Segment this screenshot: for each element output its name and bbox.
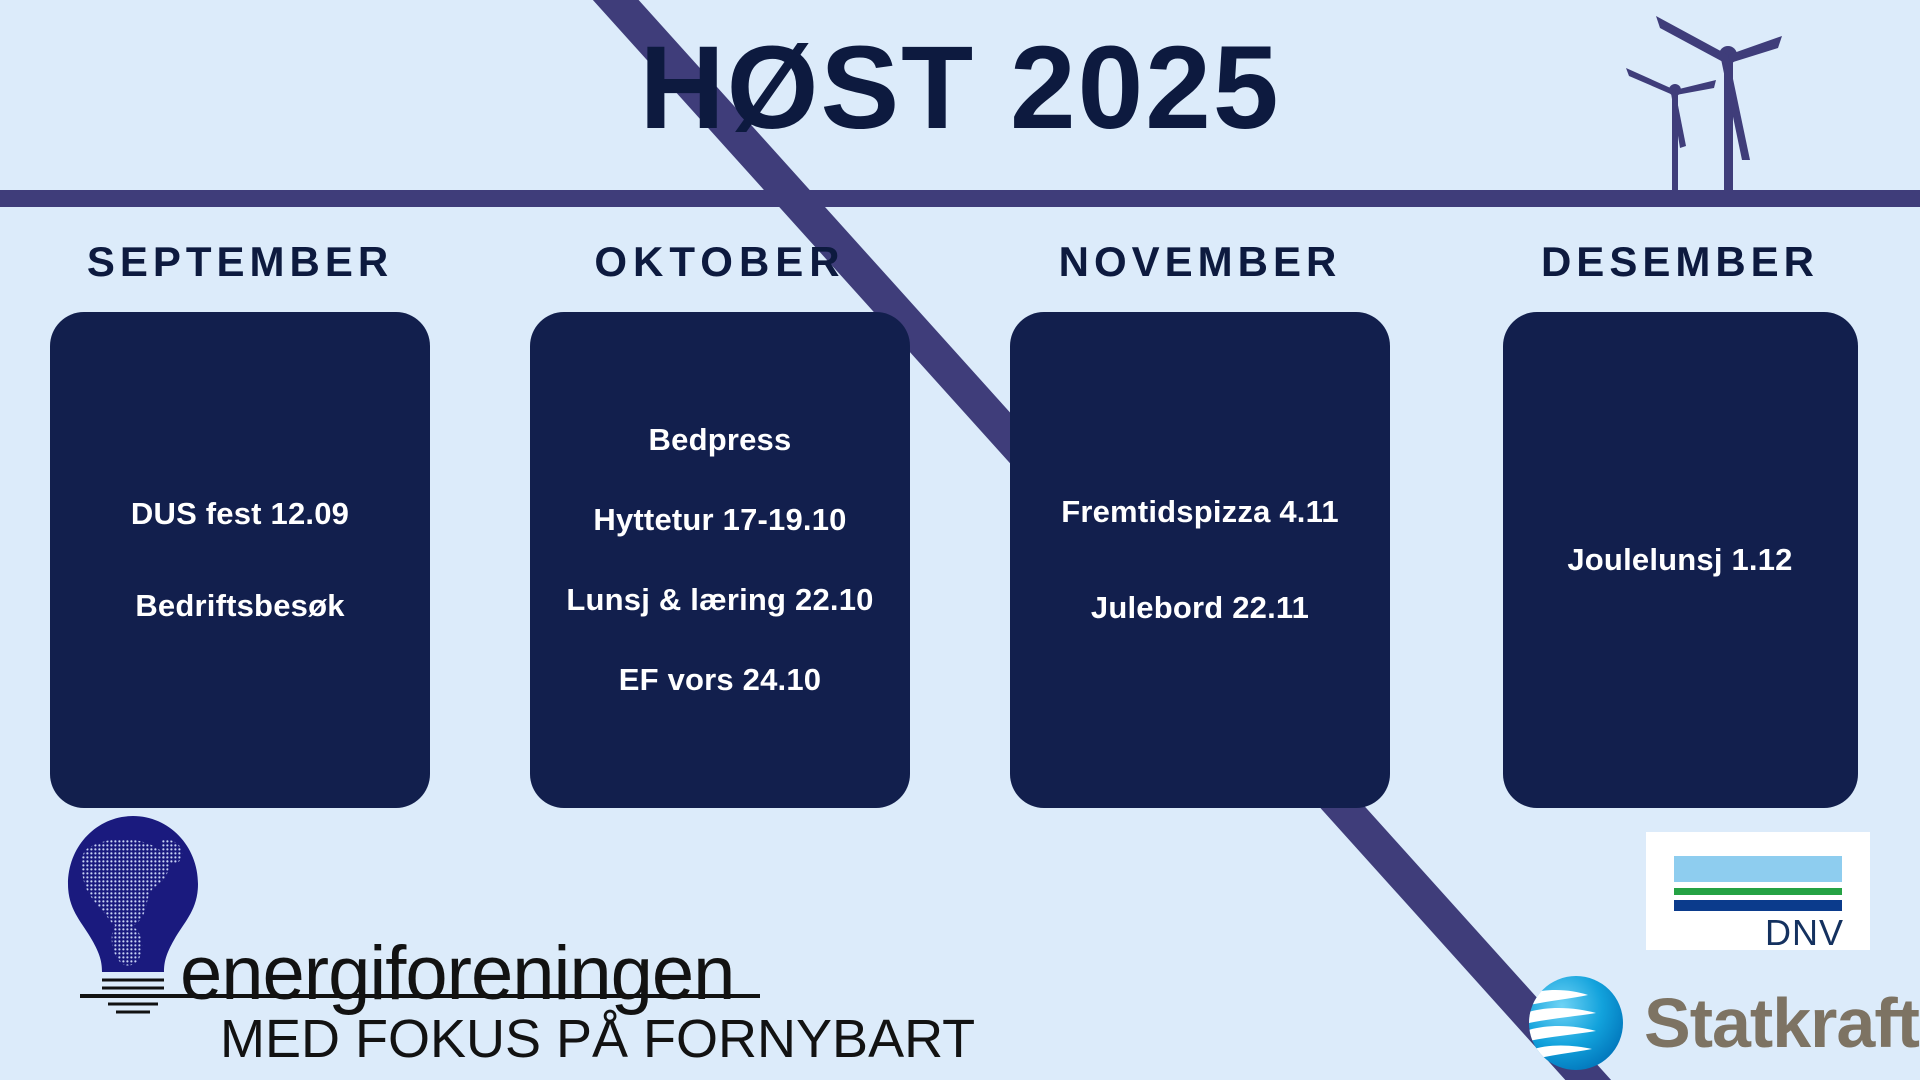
month-heading-desember: DESEMBER (1541, 238, 1819, 286)
event-item: Bedpress (649, 422, 792, 458)
event-item: EF vors 24.10 (619, 662, 822, 698)
dnv-logo: DNV (1646, 832, 1870, 950)
month-column-september: SEPTEMBER DUS fest 12.09 Bedriftsbesøk (0, 238, 480, 808)
month-column-oktober: OKTOBER Bedpress Hyttetur 17-19.10 Lunsj… (480, 238, 960, 808)
poster-canvas: HØST 2025 SEPTEMBER DUS fest 12.09 Bedri… (0, 0, 1920, 1080)
dnv-bar-light (1674, 856, 1842, 882)
month-card-september: DUS fest 12.09 Bedriftsbesøk (50, 312, 430, 808)
month-heading-oktober: OKTOBER (594, 238, 845, 286)
energiforeningen-tagline: MED FOKUS PÅ FORNYBART (220, 1008, 975, 1070)
month-heading-november: NOVEMBER (1059, 238, 1342, 286)
statkraft-logo: Statkraft (1516, 965, 1920, 1080)
month-card-desember: Joulelunsj 1.12 (1503, 312, 1858, 808)
dnv-wordmark: DNV (1674, 912, 1844, 954)
month-card-november: Fremtidspizza 4.11 Julebord 22.11 (1010, 312, 1390, 808)
globe-swoosh-icon (1526, 973, 1626, 1073)
month-column-desember: DESEMBER Joulelunsj 1.12 (1440, 238, 1920, 808)
month-column-november: NOVEMBER Fremtidspizza 4.11 Julebord 22.… (960, 238, 1440, 808)
event-item: Joulelunsj 1.12 (1567, 542, 1792, 578)
statkraft-wordmark: Statkraft (1644, 983, 1919, 1063)
energiforeningen-logo: energiforeningen MED FOKUS PÅ FORNYBART (40, 812, 980, 1080)
event-item: Lunsj & læring 22.10 (566, 582, 873, 618)
month-heading-september: SEPTEMBER (87, 238, 393, 286)
month-card-oktober: Bedpress Hyttetur 17-19.10 Lunsj & lærin… (530, 312, 910, 808)
page-title: HØST 2025 (0, 18, 1920, 160)
event-item: Fremtidspizza 4.11 (1061, 494, 1339, 530)
energiforeningen-wordmark: energiforeningen (180, 930, 734, 1017)
event-item: Julebord 22.11 (1091, 590, 1309, 626)
event-item: Bedriftsbesøk (135, 588, 344, 624)
event-item: Hyttetur 17-19.10 (593, 502, 846, 538)
dnv-bar-dark (1674, 900, 1842, 911)
dnv-bar-green (1674, 888, 1842, 895)
horizontal-accent-rule (0, 190, 1920, 207)
wordmark-underline (80, 994, 760, 998)
event-item: DUS fest 12.09 (131, 496, 349, 532)
month-columns: SEPTEMBER DUS fest 12.09 Bedriftsbesøk O… (0, 238, 1920, 808)
